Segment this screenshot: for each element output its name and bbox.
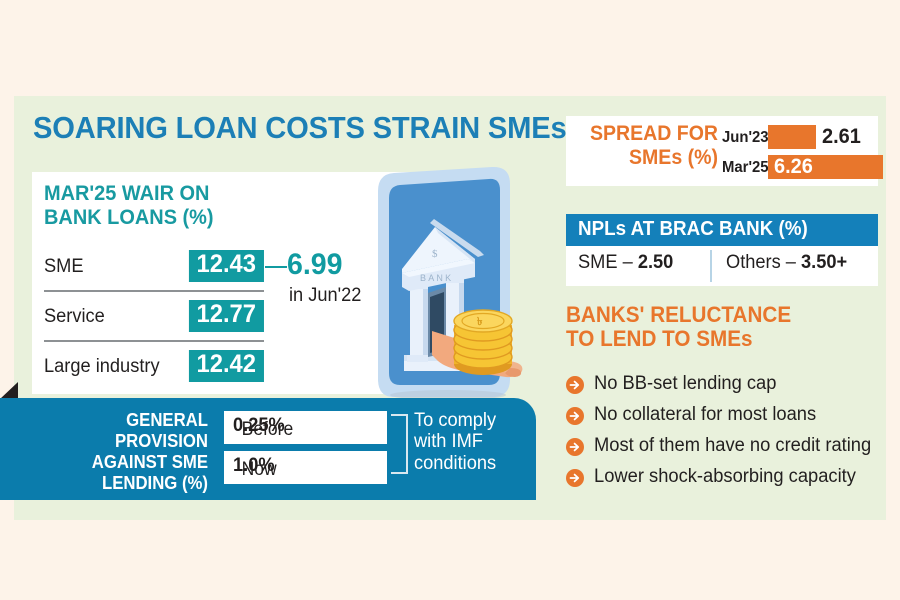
wair-row-label: SME — [44, 256, 84, 278]
svg-text:৳: ৳ — [477, 316, 483, 328]
npl-cell-value: 2.50 — [638, 252, 674, 273]
spread-row-period: Mar'25 — [722, 159, 769, 177]
list-item-label: Lower shock-absorbing capacity — [594, 466, 856, 488]
divider — [710, 250, 712, 282]
provision-row-label: Now — [242, 459, 277, 481]
wair-row-value: 12.77 — [189, 300, 264, 332]
arrow-circle-right-icon — [566, 438, 584, 456]
wair-card-title: MAR'25 WAIR ON BANK LOANS (%) — [44, 182, 263, 230]
list-item: No BB-set lending cap — [566, 373, 878, 399]
provision-title: GENERAL PROVISION AGAINST SME LENDING (%… — [31, 410, 208, 494]
spread-card-title: SPREAD FOR SMEs (%) — [577, 122, 718, 169]
spread-row-value: 6.26 — [774, 155, 813, 179]
provision-title-line-3: LENDING (%) — [31, 473, 208, 494]
wair-row-label: Service — [44, 306, 105, 328]
spread-title-line-2: SMEs (%) — [577, 146, 718, 170]
divider — [44, 290, 264, 292]
list-item-label: Most of them have no credit rating — [594, 435, 871, 457]
page-title: SOARING LOAN COSTS STRAIN SMEs — [33, 112, 522, 145]
wair-row: SME 12.43 — [44, 248, 264, 290]
provision-note-line-2: with IMF — [414, 431, 522, 452]
npl-cell-label: Others – — [726, 252, 801, 273]
provision-value-box: Now 1.0% — [224, 451, 387, 484]
spread-title-line-1: SPREAD FOR — [577, 122, 718, 146]
svg-text:$: $ — [432, 248, 438, 260]
divider — [44, 340, 264, 342]
provision-note-line-3: conditions — [414, 453, 522, 474]
spread-row-period: Jun'23 — [722, 129, 769, 147]
provision-row-text: Now 1.0% — [233, 455, 275, 477]
arrow-circle-right-icon — [566, 376, 584, 394]
bank-building-with-hand-holding-coins-icon: BANK $ ৳ — [360, 165, 565, 400]
provision-value-box: Before 0.25% — [224, 411, 387, 444]
npl-header-label: NPLs AT BRAC BANK (%) — [578, 218, 808, 241]
callout-connector-line — [265, 266, 287, 268]
coin-stack-icon: ৳ — [454, 310, 512, 375]
npl-cell: Others – 3.50+ — [726, 252, 847, 274]
wair-row-value: 12.43 — [189, 250, 264, 282]
provision-row-label: Before — [242, 419, 294, 441]
arrow-circle-right-icon — [566, 469, 584, 487]
npl-card-header: NPLs AT BRAC BANK (%) — [566, 214, 878, 246]
list-item: Most of them have no credit rating — [566, 435, 878, 461]
spread-row-bar — [768, 125, 816, 149]
spread-card: SPREAD FOR SMEs (%) Jun'23 2.61 Mar'25 6… — [566, 116, 878, 186]
list-item-label: No collateral for most loans — [594, 404, 816, 426]
list-item: Lower shock-absorbing capacity — [566, 466, 878, 492]
list-item-label: No BB-set lending cap — [594, 373, 776, 395]
provision-note: To comply with IMF conditions — [414, 410, 522, 474]
wair-row: Service 12.77 — [44, 298, 264, 340]
provision-title-line-1: GENERAL PROVISION — [31, 410, 208, 452]
npl-cell-value: 3.50+ — [801, 252, 847, 273]
reluctance-title: BANKS' RELUCTANCE TO LEND TO SMEs — [566, 303, 848, 351]
provision-title-line-2: AGAINST SME — [31, 452, 208, 473]
list-item: No collateral for most loans — [566, 404, 878, 430]
npl-cell-label: SME – — [578, 252, 638, 273]
bank-illustration: BANK $ ৳ — [360, 165, 565, 400]
npl-card: NPLs AT BRAC BANK (%) SME – 2.50 Others … — [566, 214, 878, 286]
wair-row-value: 12.42 — [189, 350, 264, 382]
wair-row-label: Large industry — [44, 356, 160, 378]
reluctance-title-line-2: TO LEND TO SMEs — [566, 327, 848, 351]
wair-callout-value: 6.99 — [287, 250, 342, 280]
wair-callout-subtext: in Jun'22 — [289, 286, 361, 305]
spread-row-value: 2.61 — [822, 125, 861, 149]
bracket-connector — [391, 414, 408, 474]
reluctance-title-line-1: BANKS' RELUCTANCE — [566, 303, 848, 327]
wair-row: Large industry 12.42 — [44, 348, 264, 390]
arrow-circle-right-icon — [566, 407, 584, 425]
provision-note-line-1: To comply — [414, 410, 522, 431]
npl-cell: SME – 2.50 — [578, 252, 673, 274]
wair-title-line-1: MAR'25 WAIR ON — [44, 182, 263, 206]
svg-text:BANK: BANK — [420, 273, 453, 283]
wair-title-line-2: BANK LOANS (%) — [44, 206, 263, 230]
provision-row-text: Before 0.25% — [233, 415, 285, 437]
